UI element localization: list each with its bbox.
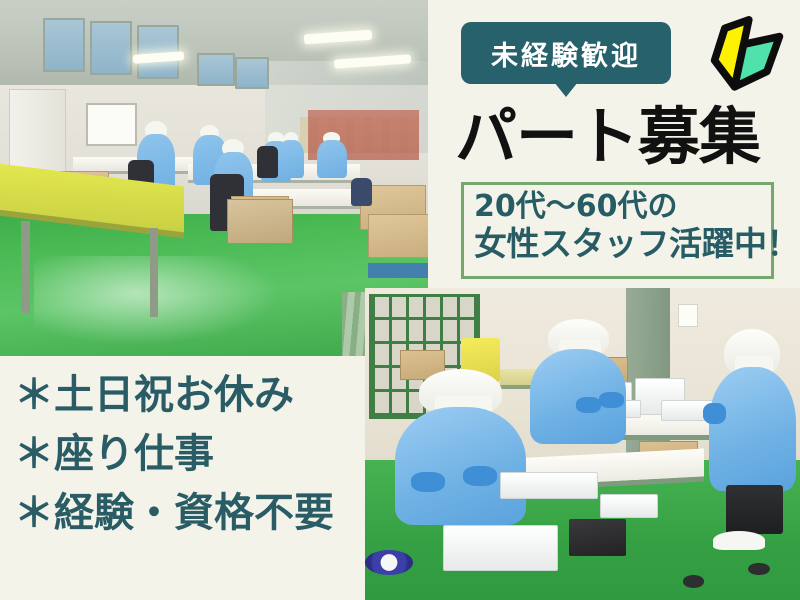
experience-welcome-badge: 未経験歓迎 [461, 22, 671, 84]
plastic-tray-stack [500, 472, 598, 499]
tape-dispenser [365, 550, 413, 575]
seated-worker [278, 132, 304, 178]
page-title: パート募集 [455, 104, 800, 169]
worker-glove [411, 472, 445, 492]
cardboard-box [368, 214, 428, 259]
window-pane [197, 53, 235, 85]
plastic-tray-stack [600, 494, 659, 518]
window-pane [235, 57, 269, 89]
blue-pallet-dolly [368, 263, 428, 277]
worker-glove [576, 397, 601, 413]
badge-tail-arrow [554, 82, 578, 97]
open-carton-on-cart [227, 199, 293, 244]
list-item: ＊経験・資格不要 [14, 484, 364, 543]
window-pane [90, 21, 133, 75]
list-item: ＊土日祝お休み [14, 366, 364, 425]
office-chair [257, 146, 278, 178]
window-pane [43, 18, 86, 72]
seated-worker-foreground [395, 369, 526, 525]
badge-bubble: 未経験歓迎 [461, 22, 671, 84]
work-stool [726, 485, 783, 535]
table-caster [683, 575, 705, 587]
wakaba-beginner-mark-icon [703, 8, 787, 100]
table-leg [21, 221, 30, 314]
benefits-list: ＊土日祝お休み ＊座り仕事 ＊経験・資格不要 [14, 366, 364, 544]
factory-workroom-photo [0, 0, 428, 356]
worker-glove [599, 392, 624, 408]
female-staff-text: 女性スタッフ活躍中！ [474, 224, 763, 264]
worker-glove [703, 403, 726, 424]
seated-worker [709, 329, 796, 491]
floor-reflection [34, 256, 291, 349]
standing-worker [530, 319, 626, 444]
badge-label: 未経験歓迎 [491, 34, 641, 73]
packing-workers-photo [365, 288, 800, 600]
table-leg [150, 228, 159, 317]
tool-tray [569, 519, 626, 556]
table-caster [748, 563, 770, 575]
office-chair [351, 178, 372, 206]
seated-worker [317, 132, 347, 178]
list-item: ＊座り仕事 [14, 425, 364, 484]
whiteboard [86, 103, 137, 146]
worker-coverall [278, 140, 304, 178]
worker-shoe [713, 531, 765, 550]
worker-glove [463, 466, 497, 486]
worker-coverall [709, 367, 796, 490]
staff-highlight-box: 20代〜60代の 女性スタッフ活躍中！ [461, 182, 774, 279]
age-range-text: 20代〜60代の [474, 189, 763, 224]
worker-coverall [395, 407, 526, 526]
wall-notice [678, 304, 697, 328]
wrapped-tray-bundle [443, 525, 558, 571]
worker-coverall [317, 140, 347, 178]
poster-canvas: 未経験歓迎 パート募集 20代〜60代の 女性スタッフ活躍中！ ＊土日祝お休み … [0, 0, 800, 600]
